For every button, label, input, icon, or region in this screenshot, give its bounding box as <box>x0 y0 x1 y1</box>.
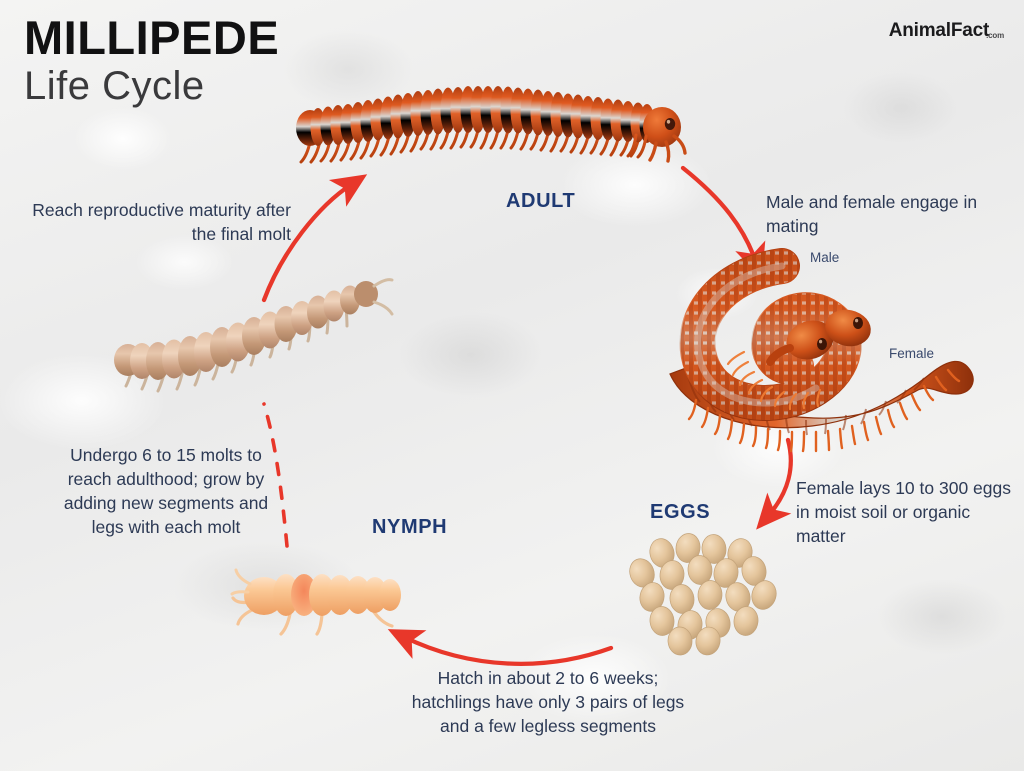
adult-eye <box>665 118 675 130</box>
caption-hatching: Hatch in about 2 to 6 weeks; hatchlings … <box>398 666 698 738</box>
juvenile-body-segments <box>114 281 378 380</box>
stage-badge-adult: ADULT <box>492 185 589 219</box>
eggs <box>626 532 780 657</box>
arrow-eggs-to-hatchling <box>404 637 611 664</box>
label-female: Female <box>889 346 934 361</box>
millipede-life-cycle-infographic: MILLIPEDE Life Cycle AnimalFact.com <box>0 0 1024 771</box>
caption-molting: Undergo 6 to 15 molts to reach adulthood… <box>46 443 286 540</box>
caption-reach-maturity: Reach reproductive maturity after the fi… <box>25 198 291 246</box>
caption-mating: Male and female engage in mating <box>766 190 1006 238</box>
adult-body-segments <box>296 86 681 147</box>
stage-badge-nymph: NYMPH <box>358 511 461 545</box>
adult-millipede-illustration <box>288 80 688 180</box>
arrow-mating-to-eggs <box>768 440 791 516</box>
juvenile-millipede-illustration <box>108 266 418 406</box>
hatchling-body-segments <box>244 574 401 616</box>
male-eye <box>817 338 827 350</box>
stage-badge-eggs: EGGS <box>636 496 724 530</box>
egg-cluster-illustration <box>628 537 788 652</box>
label-male: Male <box>810 250 839 265</box>
hatchling-millipede-illustration <box>228 548 428 648</box>
mating-pair-illustration <box>662 248 992 438</box>
adult-head <box>643 107 681 147</box>
caption-egg-laying: Female lays 10 to 300 eggs in moist soil… <box>796 476 1011 548</box>
female-eye <box>853 317 863 329</box>
